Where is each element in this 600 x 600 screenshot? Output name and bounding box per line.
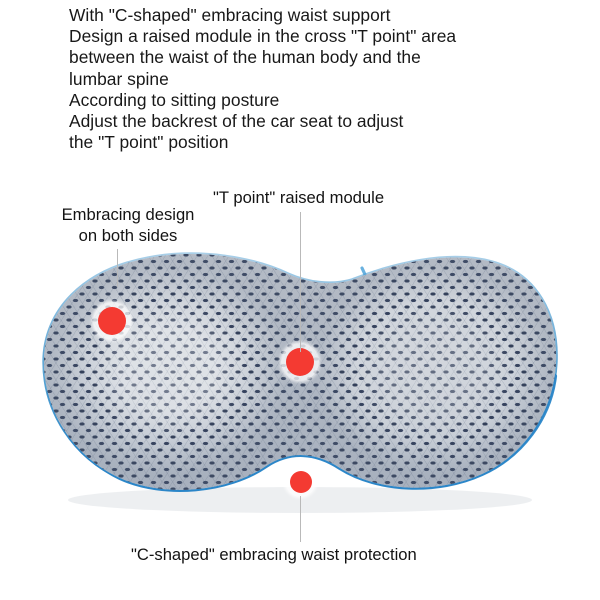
infographic-canvas: With "C-shaped" embracing waist support … xyxy=(0,0,600,600)
leader-line-t-point xyxy=(300,212,301,352)
callout-embracing-design: Embracing design on both sides xyxy=(35,205,221,246)
leader-line-embracing xyxy=(117,249,118,287)
callout-embracing-line-2: on both sides xyxy=(35,226,221,247)
callout-embracing-line-1: Embracing design xyxy=(35,205,221,226)
leader-line-c-shaped xyxy=(300,496,301,542)
marker-dot xyxy=(286,348,314,376)
marker-dot xyxy=(98,307,126,335)
callout-c-shaped: "C-shaped" embracing waist protection xyxy=(131,545,417,566)
callout-t-point: "T point" raised module xyxy=(213,188,384,209)
marker-dot xyxy=(290,471,312,493)
marker-c-shaped[interactable] xyxy=(285,466,316,497)
marker-embracing-design[interactable] xyxy=(93,302,131,340)
